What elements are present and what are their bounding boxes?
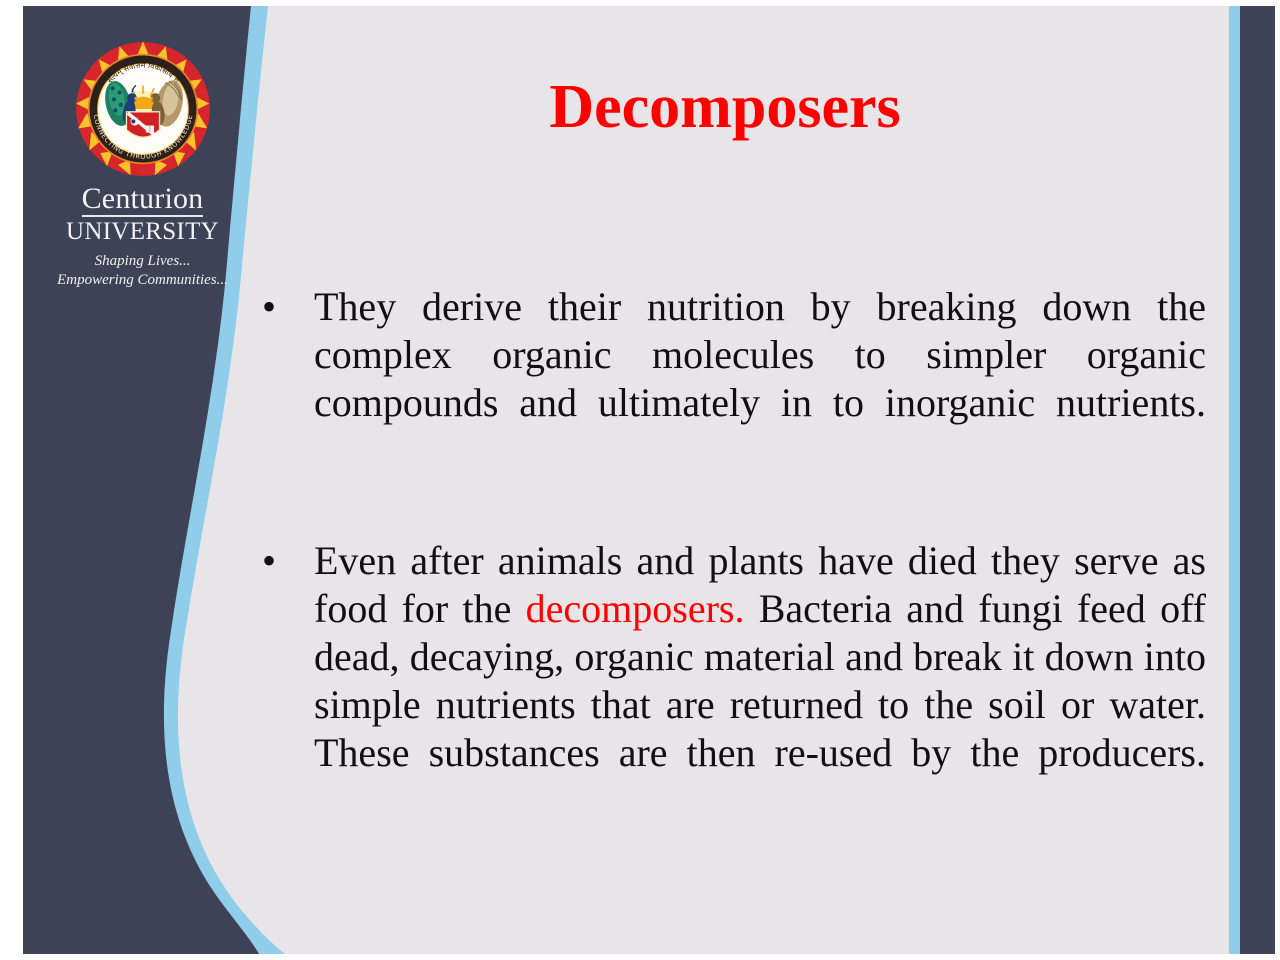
bullet-marker: • <box>262 537 314 585</box>
bullet-item-2: • Even after animals and plants have die… <box>262 537 1206 825</box>
bullet-text-2: Even after animals and plants have died … <box>314 537 1206 825</box>
right-accent-stripe <box>1229 6 1240 954</box>
bullet-text-2-highlight: decomposers. <box>526 586 745 631</box>
bullet-marker: • <box>262 283 314 331</box>
university-subtitle: UNIVERSITY <box>45 219 240 245</box>
right-navy-bar <box>1240 6 1275 954</box>
centurion-university-emblem-icon: सत्यम् सर्वोत्तम विकासाय च CONNECTING TH… <box>74 40 212 178</box>
bullet-item-1: • They derive their nutrition by breakin… <box>262 283 1206 475</box>
bullet-text-1: They derive their nutrition by breaking … <box>314 283 1206 475</box>
slide-body: • They derive their nutrition by breakin… <box>262 283 1206 825</box>
university-name: Centurion <box>45 184 240 217</box>
slide-title: Decomposers <box>245 76 1205 138</box>
university-tagline: Shaping Lives... Empowering Communities.… <box>45 252 240 290</box>
university-logo: सत्यम् सर्वोत्तम विकासाय च CONNECTING TH… <box>45 40 240 290</box>
tagline-line-1: Shaping Lives... <box>45 252 240 271</box>
presentation-slide: सत्यम् सर्वोत्तम विकासाय च CONNECTING TH… <box>0 0 1280 960</box>
tagline-line-2: Empowering Communities... <box>45 271 240 290</box>
